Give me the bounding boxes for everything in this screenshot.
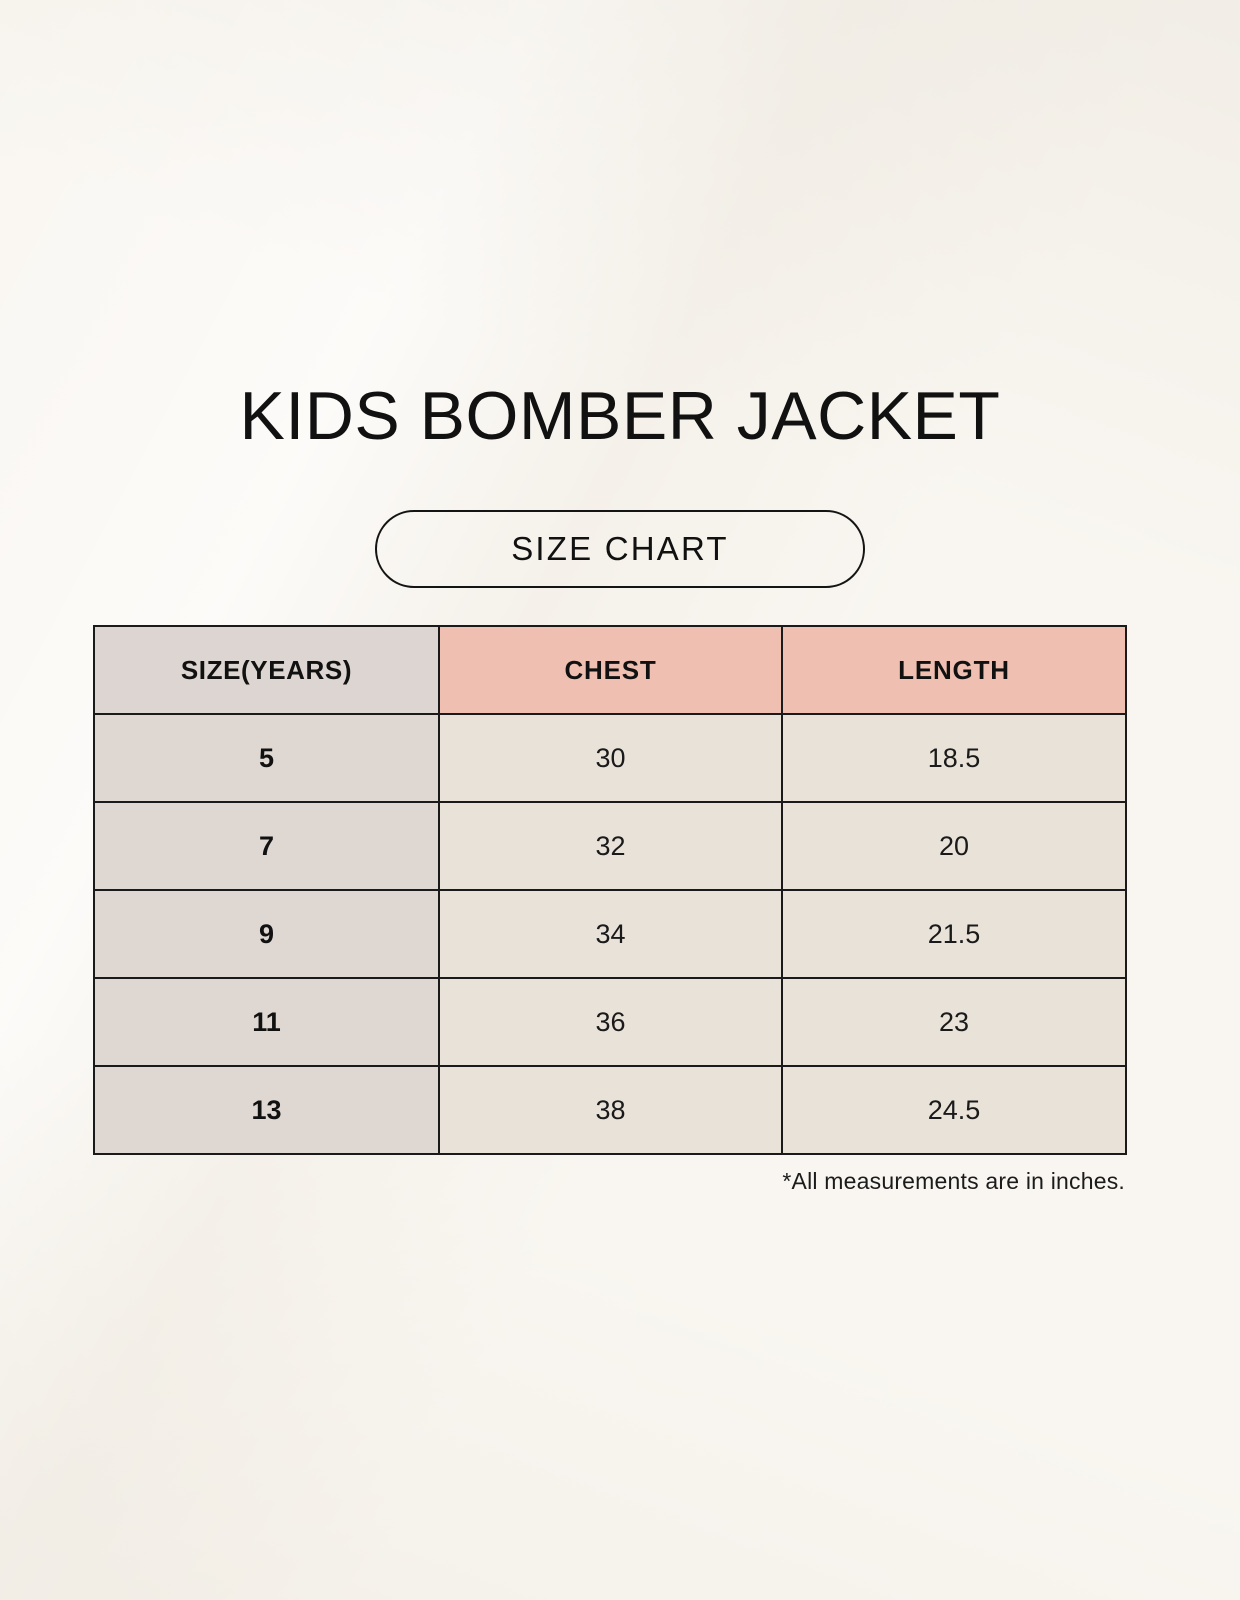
cell-size: 13 [94, 1066, 439, 1154]
cell-size: 9 [94, 890, 439, 978]
column-header-chest: CHEST [439, 626, 782, 714]
cell-chest: 38 [439, 1066, 782, 1154]
table-row: 11 36 23 [94, 978, 1126, 1066]
cell-chest: 34 [439, 890, 782, 978]
size-chart-badge-label: SIZE CHART [511, 530, 729, 568]
cell-length: 20 [782, 802, 1126, 890]
cell-length: 23 [782, 978, 1126, 1066]
size-table-container: SIZE(YEARS) CHEST LENGTH 5 30 18.5 7 32 … [93, 625, 1125, 1155]
measurements-footnote: *All measurements are in inches. [93, 1168, 1125, 1195]
cell-chest: 36 [439, 978, 782, 1066]
cell-size: 7 [94, 802, 439, 890]
size-chart-page: KIDS BOMBER JACKET SIZE CHART SIZE(YEARS… [0, 0, 1240, 1600]
table-header-row: SIZE(YEARS) CHEST LENGTH [94, 626, 1126, 714]
page-title: KIDS BOMBER JACKET [0, 377, 1240, 455]
cell-size: 11 [94, 978, 439, 1066]
cell-length: 18.5 [782, 714, 1126, 802]
cell-length: 21.5 [782, 890, 1126, 978]
cell-chest: 30 [439, 714, 782, 802]
column-header-size: SIZE(YEARS) [94, 626, 439, 714]
table-row: 7 32 20 [94, 802, 1126, 890]
size-table: SIZE(YEARS) CHEST LENGTH 5 30 18.5 7 32 … [93, 625, 1127, 1155]
cell-chest: 32 [439, 802, 782, 890]
table-row: 5 30 18.5 [94, 714, 1126, 802]
table-row: 13 38 24.5 [94, 1066, 1126, 1154]
size-chart-badge: SIZE CHART [375, 510, 865, 588]
column-header-length: LENGTH [782, 626, 1126, 714]
cell-length: 24.5 [782, 1066, 1126, 1154]
table-row: 9 34 21.5 [94, 890, 1126, 978]
cell-size: 5 [94, 714, 439, 802]
